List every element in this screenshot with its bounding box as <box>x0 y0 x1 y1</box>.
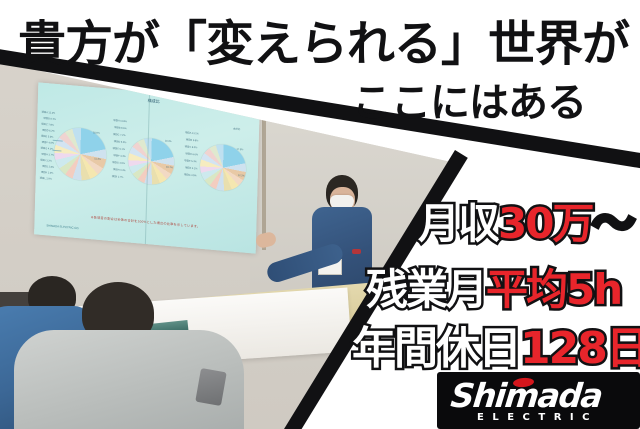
company-logo: Shimada ELECTRIC <box>437 372 640 429</box>
wall-seam <box>262 60 266 250</box>
stat-value: 平均5h <box>486 265 621 314</box>
slide-note: ※各項目の割合は全体の合計を100%とした場合の比率を示しています。 <box>53 211 239 232</box>
uniform-logo <box>352 249 361 254</box>
stat-annual-holidays: 年間休日128日 <box>352 312 640 376</box>
stat-monthly-income: 月収30万〜 <box>418 190 632 251</box>
pie-chart-2: 項目A 11.8% 項目B 8.6% 項目C 7.2% 項目D 6.0% 項目E… <box>111 115 185 205</box>
stat-value: 30万 <box>498 199 592 248</box>
pie-chart-1: 項目A 12.4% 項目B 9.1% 項目C 7.8% 項目D 6.2% 項目E… <box>39 109 113 199</box>
headline-line-1: 貴方が「変えられる」世界が <box>18 4 629 74</box>
pie-chart-3: 合計比 項目A 13.1% 項目B 9.8% 項目C 8.0% 項目D 6.6%… <box>183 121 257 211</box>
pie-graphic <box>128 136 175 186</box>
slide-title: 構成比 <box>148 98 160 105</box>
logo-subtitle: ELECTRIC <box>477 412 598 423</box>
stat-value: 128日 <box>520 323 640 374</box>
job-ad-banner: 構成比 項目A 12.4% 項目B 9.1% 項目C 7.8% 項目D 6.2%… <box>0 0 640 429</box>
stat-overtime: 残業月平均5h <box>366 256 621 317</box>
slide-footer: SHIMADA ELECTRIC CO. <box>46 223 79 230</box>
projection-screen: 構成比 項目A 12.4% 項目B 9.1% 項目C 7.8% 項目D 6.2%… <box>34 82 260 253</box>
stat-label: 年間休日 <box>352 323 520 374</box>
stat-suffix: 〜 <box>592 199 632 248</box>
